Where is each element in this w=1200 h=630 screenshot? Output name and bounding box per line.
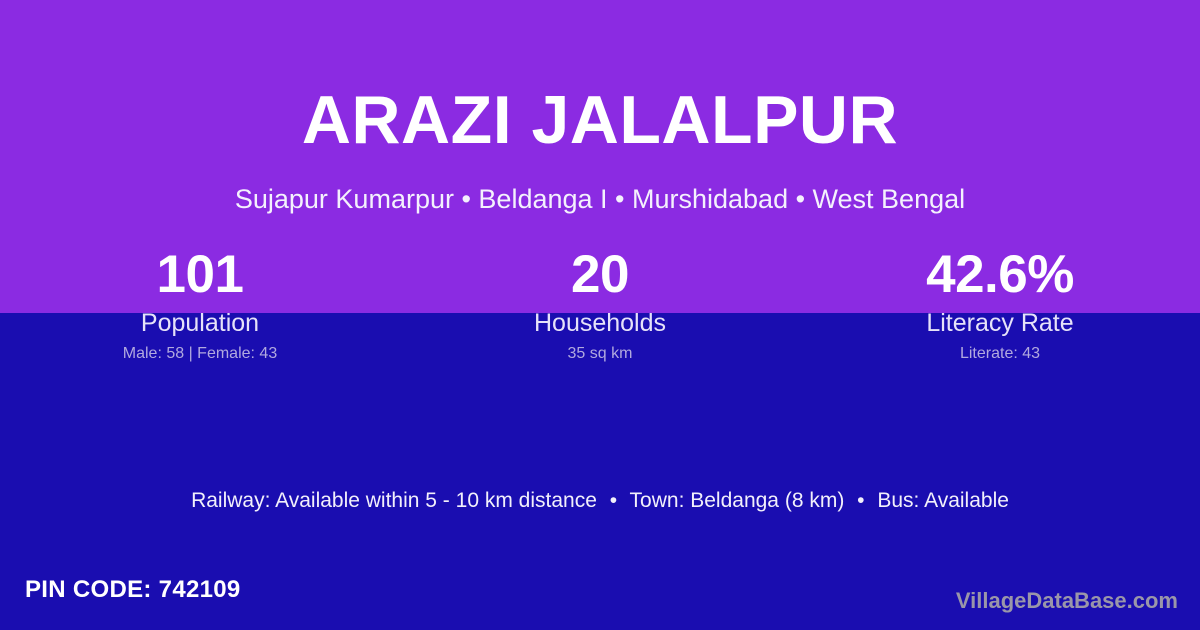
amenities-row: Railway: Available within 5 - 10 km dist… bbox=[0, 487, 1200, 515]
amenity-bus: Bus: Available bbox=[877, 489, 1009, 512]
amenity-railway: Railway: Available within 5 - 10 km dist… bbox=[191, 489, 597, 512]
amenity-separator-icon: • bbox=[603, 489, 624, 512]
stat-literacy-rate-label: Literacy Rate bbox=[800, 307, 1200, 339]
village-info-card: ARAZI JALALPUR Sujapur Kumarpur • Beldan… bbox=[0, 0, 1200, 630]
amenity-separator-icon: • bbox=[850, 489, 871, 512]
stat-population-label: Population bbox=[0, 307, 400, 339]
stat-population-sub: Male: 58 | Female: 43 bbox=[0, 343, 400, 365]
stat-households-sub: 35 sq km bbox=[400, 343, 800, 365]
stat-literacy-rate-value: 42.6% bbox=[800, 245, 1200, 305]
stat-households-value: 20 bbox=[400, 245, 800, 305]
stat-households-label: Households bbox=[400, 307, 800, 339]
stat-population: 101 Population Male: 58 | Female: 43 bbox=[0, 245, 400, 365]
site-watermark: VillageDataBase.com bbox=[956, 587, 1178, 615]
page-title: ARAZI JALALPUR bbox=[0, 86, 1200, 154]
stat-literacy-rate-sub: Literate: 43 bbox=[800, 343, 1200, 365]
stat-population-value: 101 bbox=[0, 245, 400, 305]
breadcrumb: Sujapur Kumarpur • Beldanga I • Murshida… bbox=[0, 183, 1200, 215]
stat-literacy-rate: 42.6% Literacy Rate Literate: 43 bbox=[800, 245, 1200, 365]
stats-row: 101 Population Male: 58 | Female: 43 20 … bbox=[0, 245, 1200, 365]
stat-households: 20 Households 35 sq km bbox=[400, 245, 800, 365]
amenity-town: Town: Beldanga (8 km) bbox=[630, 489, 845, 512]
pin-code-label: PIN CODE: 742109 bbox=[25, 575, 241, 605]
